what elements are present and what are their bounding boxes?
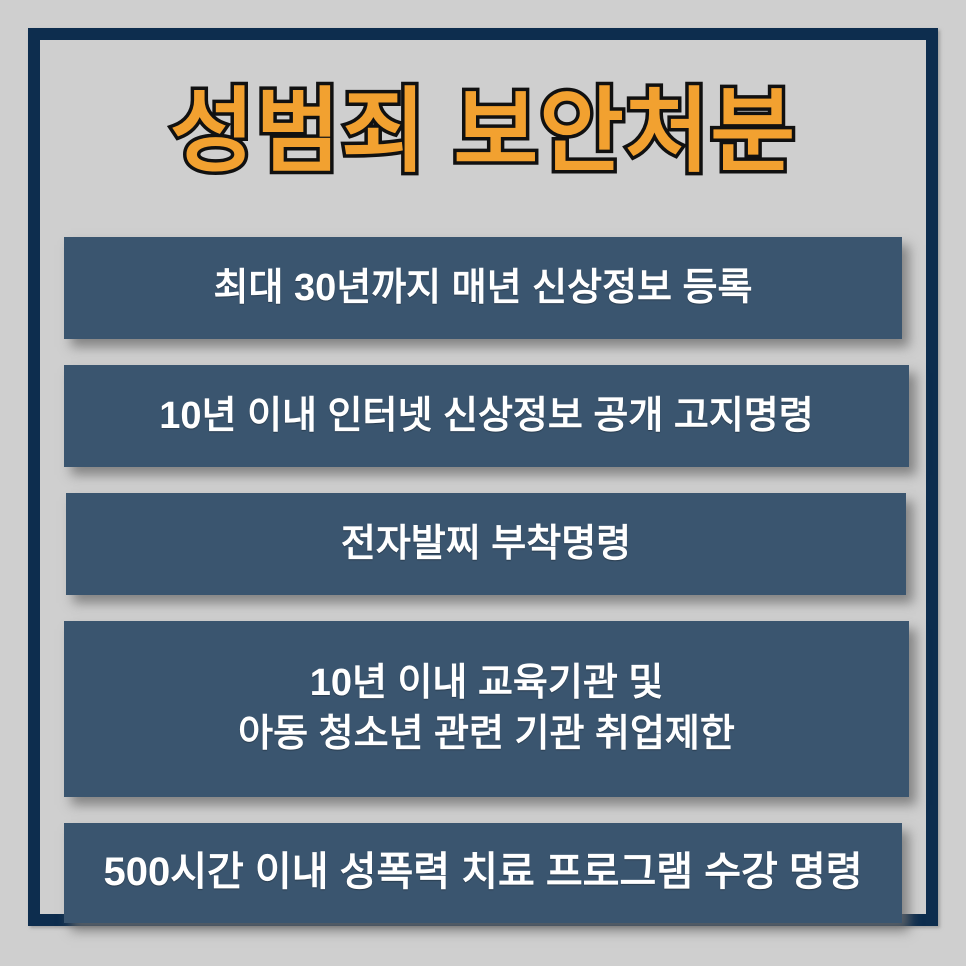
measure-text-line: 10년 이내 인터넷 신상정보 공개 고지명령 — [159, 391, 813, 442]
measure-bar-disclosure-notification: 10년 이내 인터넷 신상정보 공개 고지명령 — [64, 365, 909, 467]
measure-text-line: 최대 30년까지 매년 신상정보 등록 — [214, 263, 753, 314]
measure-text-line: 전자발찌 부착명령 — [341, 519, 631, 570]
title-area: 성범죄 보안처분 — [40, 58, 926, 206]
measure-bar-registration: 최대 30년까지 매년 신상정보 등록 — [64, 237, 902, 339]
measure-bar-electronic-anklet: 전자발찌 부착명령 — [66, 493, 906, 595]
measures-list: 최대 30년까지 매년 신상정보 등록 10년 이내 인터넷 신상정보 공개 고… — [0, 237, 966, 923]
measure-bar-treatment-program: 500시간 이내 성폭력 치료 프로그램 수강 명령 — [64, 823, 902, 923]
measure-text-line: 500시간 이내 성폭력 치료 프로그램 수강 명령 — [103, 846, 862, 900]
infographic-poster: 성범죄 보안처분 최대 30년까지 매년 신상정보 등록 10년 이내 인터넷 … — [0, 0, 966, 966]
page-title: 성범죄 보안처분 — [170, 84, 796, 181]
measure-bar-employment-restriction: 10년 이내 교육기관 및 아동 청소년 관련 기관 취업제한 — [64, 621, 909, 797]
measure-text-line: 10년 이내 교육기관 및 — [310, 658, 664, 709]
measure-text-line: 아동 청소년 관련 기관 취업제한 — [238, 709, 735, 760]
